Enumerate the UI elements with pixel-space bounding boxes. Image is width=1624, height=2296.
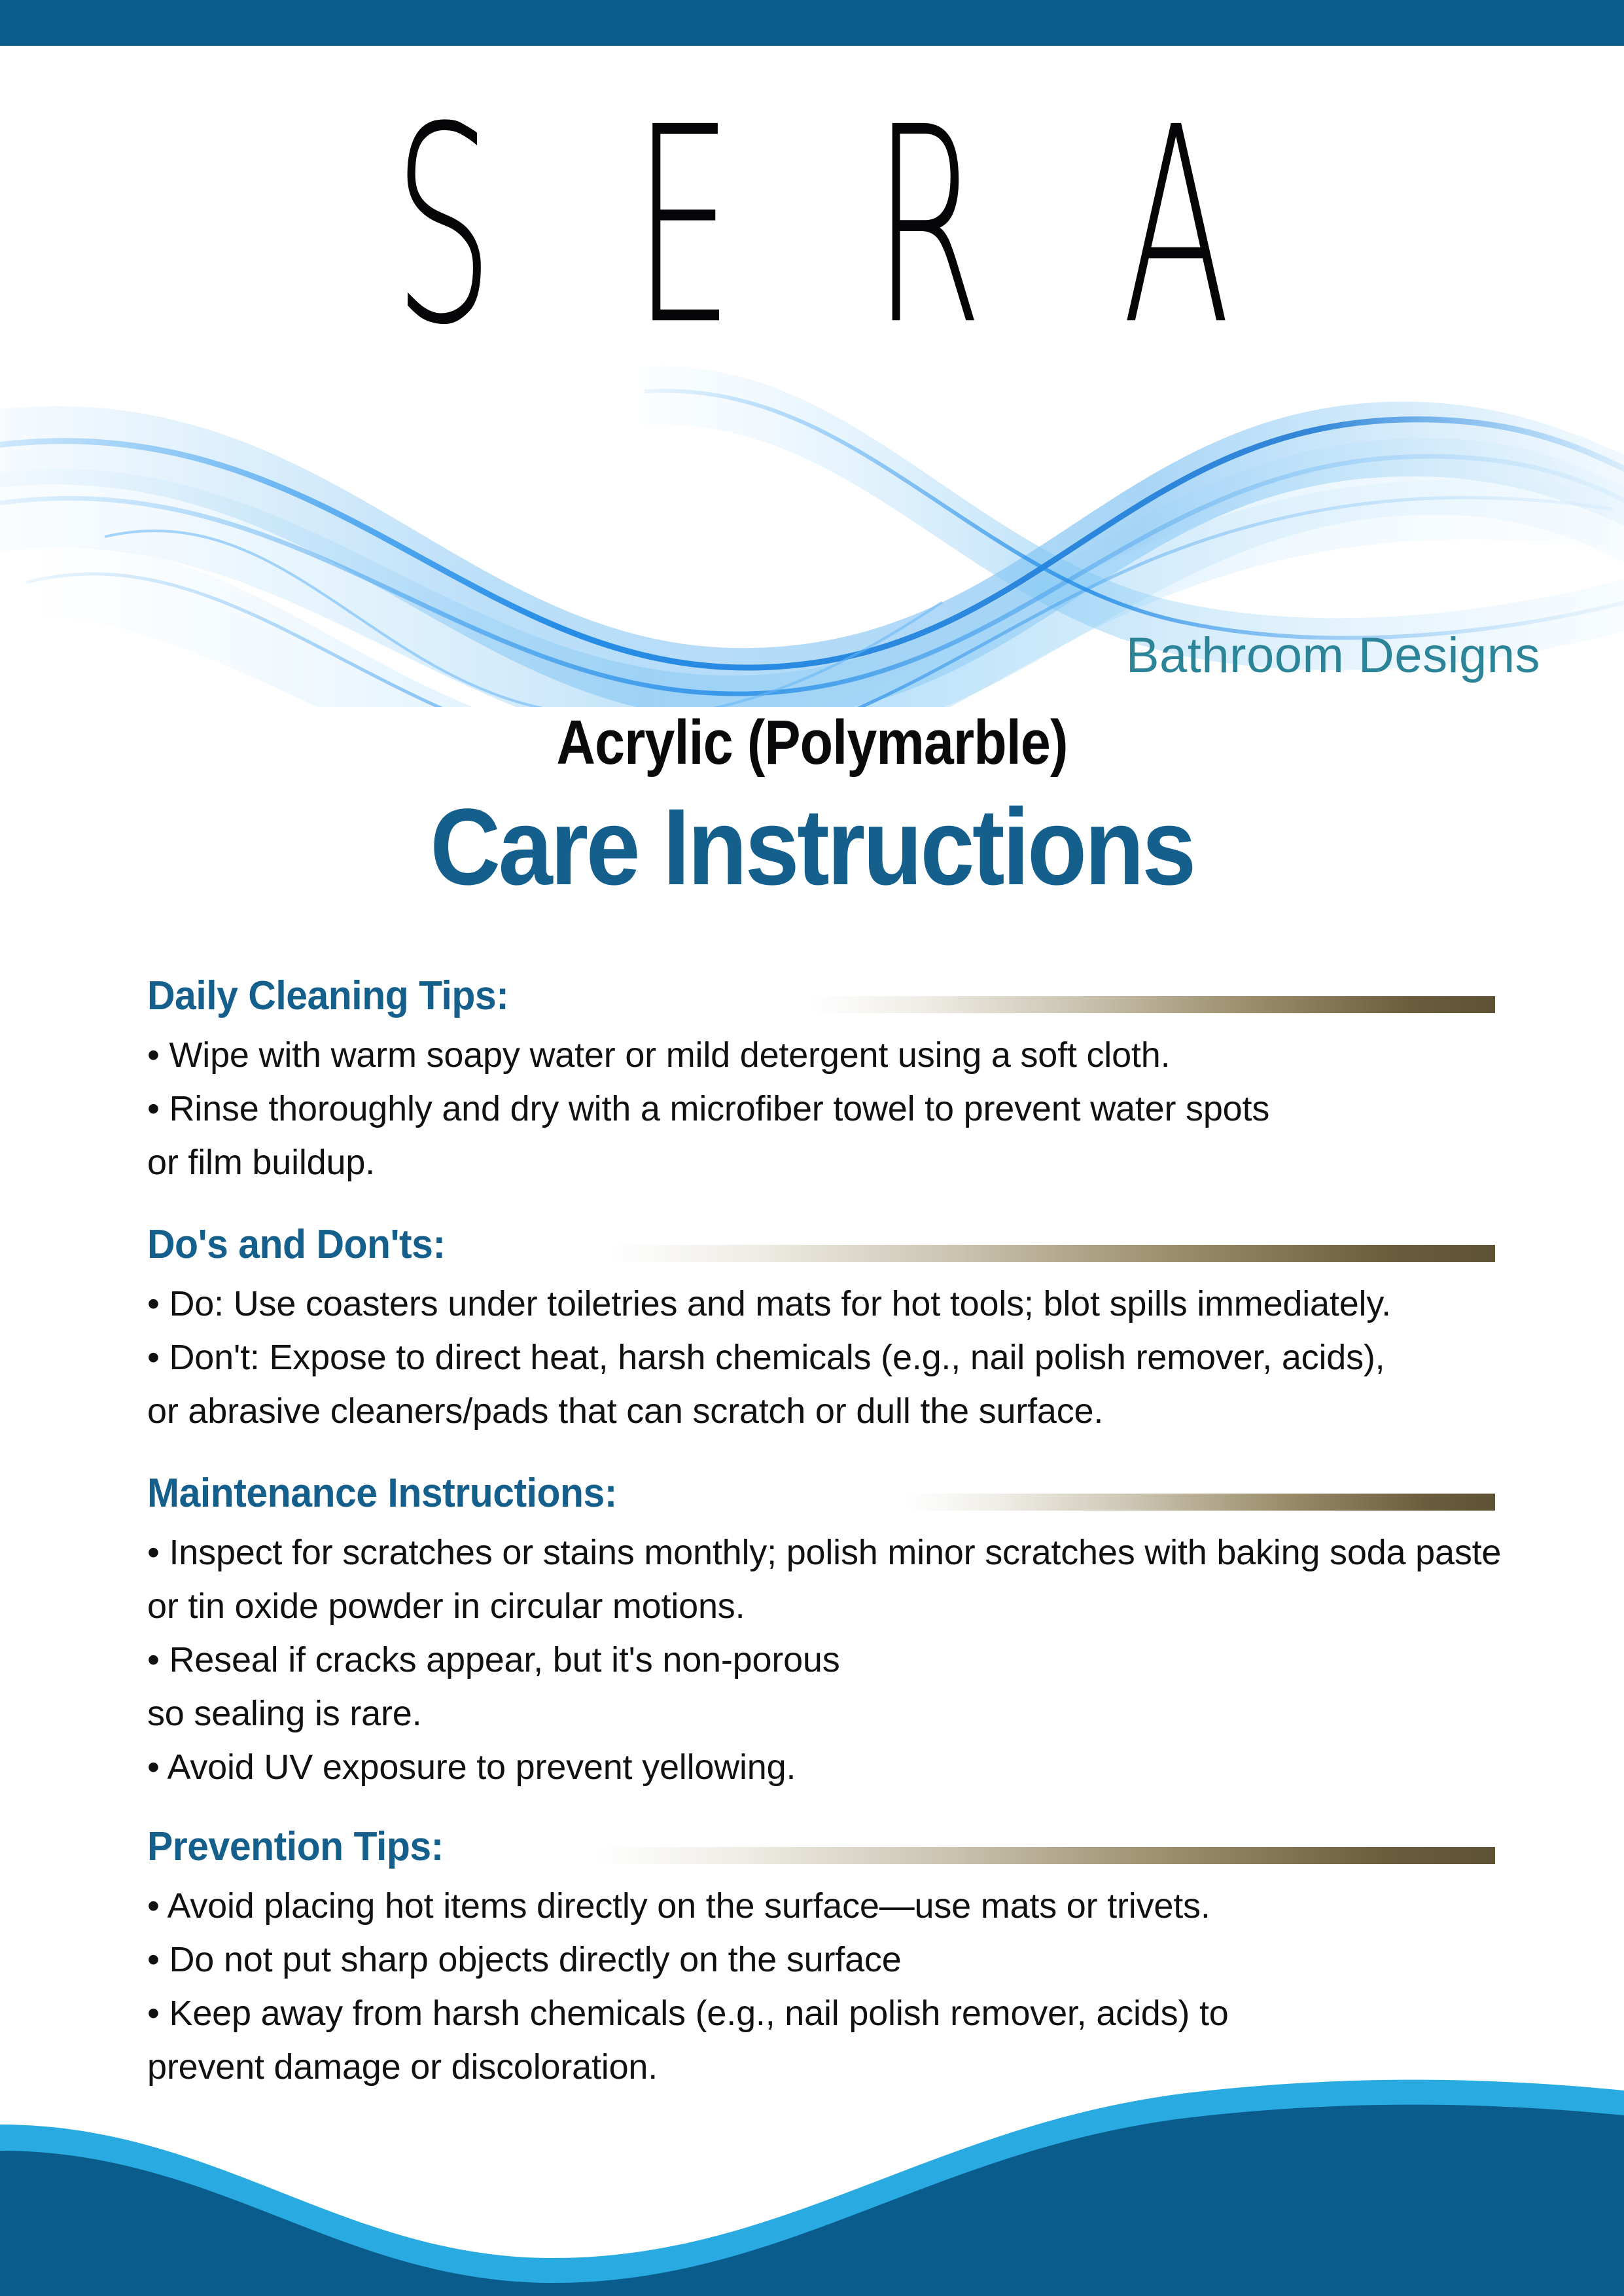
list-item: • Inspect for scratches or stains monthl… [147, 1530, 1495, 1575]
poster-page: S E R A [0, 0, 1624, 2296]
section-dos-and-donts: Do's and Don'ts: • Do: Use coasters unde… [147, 1216, 1495, 1433]
section-spacer [147, 1443, 1495, 1465]
poster-subtitle: Acrylic (Polymarble) [114, 707, 1511, 779]
section-prevention-tips: Prevention Tips: • Avoid placing hot ite… [147, 1818, 1495, 2089]
section-spacer [147, 1799, 1495, 1818]
list-item: • Do not put sharp objects directly on t… [147, 1937, 1495, 1982]
top-accent-bar [0, 0, 1624, 46]
section-maintenance-instructions: Maintenance Instructions: • Inspect for … [147, 1465, 1495, 1789]
list-item-continuation: or abrasive cleaners/pads that can scrat… [147, 1389, 1495, 1433]
care-sections: Daily Cleaning Tips: • Wipe with warm so… [147, 967, 1495, 2098]
section-header: Do's and Don'ts: [147, 1216, 1495, 1272]
list-item: • Wipe with warm soapy water or mild det… [147, 1033, 1495, 1077]
list-item: • Reseal if cracks appear, but it's non-… [147, 1638, 1495, 1682]
footer-wave-graphic [0, 2060, 1624, 2296]
list-item: • Rinse thoroughly and dry with a microf… [147, 1086, 1495, 1131]
list-item: • Do: Use coasters under toiletries and … [147, 1282, 1495, 1326]
section-body: • Inspect for scratches or stains monthl… [147, 1530, 1495, 1789]
section-divider-rule [595, 1847, 1495, 1864]
list-item-continuation: or film buildup. [147, 1140, 1495, 1185]
section-header: Maintenance Instructions: [147, 1465, 1495, 1521]
section-body: • Avoid placing hot items directly on th… [147, 1884, 1495, 2089]
section-heading: Maintenance Instructions: [147, 1470, 623, 1516]
section-divider-rule [906, 1494, 1495, 1511]
list-item-continuation: so sealing is rare. [147, 1691, 1495, 1736]
section-divider-rule [811, 996, 1495, 1013]
list-item: • Keep away from harsh chemicals (e.g., … [147, 1991, 1495, 2036]
section-heading: Do's and Don'ts: [147, 1221, 451, 1268]
brand-tagline: Bathroom Designs [1126, 627, 1540, 684]
section-spacer [147, 1194, 1495, 1216]
section-header: Daily Cleaning Tips: [147, 967, 1495, 1024]
section-heading: Prevention Tips: [147, 1823, 450, 1870]
list-item-continuation: or tin oxide powder in circular motions. [147, 1584, 1495, 1628]
list-item: • Don't: Expose to direct heat, harsh ch… [147, 1335, 1495, 1380]
section-header: Prevention Tips: [147, 1818, 1495, 1874]
list-item: • Avoid UV exposure to prevent yellowing… [147, 1745, 1495, 1789]
section-divider-rule [609, 1245, 1495, 1262]
section-body: • Wipe with warm soapy water or mild det… [147, 1033, 1495, 1185]
section-body: • Do: Use coasters under toiletries and … [147, 1282, 1495, 1433]
brand-logo-text: S E R A [349, 98, 1275, 355]
list-item: • Avoid placing hot items directly on th… [147, 1884, 1495, 1928]
section-daily-cleaning-tips: Daily Cleaning Tips: • Wipe with warm so… [147, 967, 1495, 1185]
section-heading: Daily Cleaning Tips: [147, 973, 515, 1019]
brand-logo: S E R A [0, 98, 1624, 341]
poster-title: Care Instructions [81, 785, 1543, 910]
